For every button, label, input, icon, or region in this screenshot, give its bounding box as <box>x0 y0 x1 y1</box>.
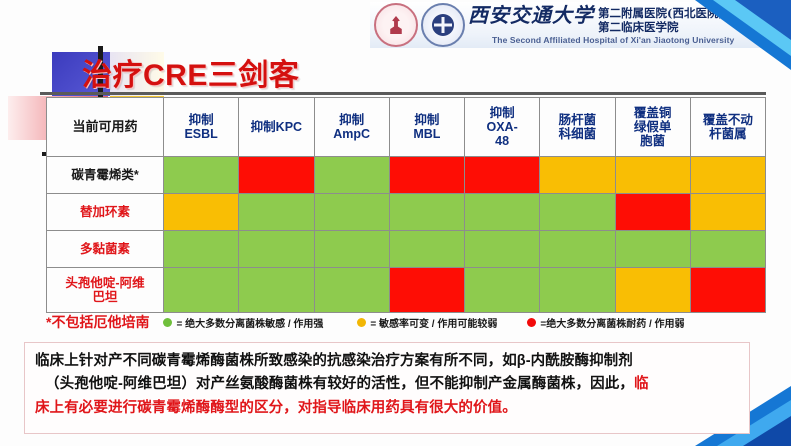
matrix-cell-red <box>239 157 314 194</box>
matrix-cell-green <box>164 231 239 268</box>
legend-item-green: = 绝大多数分离菌株敏感 / 作用强 <box>163 315 323 330</box>
legend-dot-amber-icon <box>357 318 366 327</box>
summary-note-box: 临床上针对产不同碳青霉烯酶菌株所致感染的抗感染治疗方案有所不同，如β-内酰胺酶抑… <box>24 342 750 434</box>
matrix-cell-green <box>389 231 464 268</box>
table-header-row: 当前可用药 抑制 ESBL 抑制KPC 抑制 AmpC 抑制 MBL <box>47 98 766 157</box>
matrix-cell-green <box>540 268 615 313</box>
note-line-2-highlight: 临 <box>634 376 649 392</box>
matrix-cell-red <box>465 157 540 194</box>
legend-label-green: = 绝大多数分离菌株敏感 / 作用强 <box>176 315 323 330</box>
row-label-line: 碳青霉烯类* <box>49 168 161 182</box>
note-line-2: （头孢他啶-阿维巴坦）对产丝氨酸酶菌株有较好的活性，但不能抑制产金属酶菌株，因此… <box>35 373 739 396</box>
matrix-cell-red <box>615 194 690 231</box>
matrix-cell-green <box>239 231 314 268</box>
drug-coverage-table: 当前可用药 抑制 ESBL 抑制KPC 抑制 AmpC 抑制 MBL <box>46 97 766 313</box>
table-row: 头孢他啶-阿维巴坦 <box>47 268 766 313</box>
matrix-cell-green <box>239 268 314 313</box>
matrix-cell-green <box>314 231 389 268</box>
note-line-1: 临床上针对产不同碳青霉烯酶菌株所致感染的抗感染治疗方案有所不同，如β-内酰胺酶抑… <box>35 350 739 373</box>
legend-dot-green-icon <box>163 318 172 327</box>
table-header: 当前可用药 抑制 ESBL 抑制KPC 抑制 AmpC 抑制 MBL <box>47 98 766 157</box>
column-header-enterobacteriaceae: 肠杆菌 科细菌 <box>540 98 615 157</box>
column-header-drug: 当前可用药 <box>47 98 164 157</box>
university-name: 西安交通大学 <box>468 5 594 25</box>
matrix-cell-green <box>465 268 540 313</box>
matrix-cell-green <box>615 231 690 268</box>
page-title: 治疗CRE三剑客 <box>82 50 299 94</box>
matrix-cell-amber <box>690 157 765 194</box>
legend-item-amber: = 敏感率可变 / 作用可能较弱 <box>357 315 497 330</box>
table-row: 多黏菌素 <box>47 231 766 268</box>
matrix-cell-green <box>540 231 615 268</box>
matrix-cell-amber <box>615 268 690 313</box>
legend-item-red: =绝大多数分离菌株耐药 / 作用弱 <box>527 315 684 330</box>
row-label-line: 巴坦 <box>49 290 161 304</box>
top-right-corner-decoration <box>695 0 791 70</box>
row-label-line: 替加环素 <box>49 205 161 219</box>
row-label-4: 头孢他啶-阿维巴坦 <box>47 268 164 313</box>
legend-label-red: =绝大多数分离菌株耐药 / 作用弱 <box>540 315 684 330</box>
matrix-cell-amber <box>164 194 239 231</box>
matrix-cell-green <box>314 268 389 313</box>
matrix-cell-green <box>465 231 540 268</box>
row-label-line: 头孢他啶-阿维 <box>49 276 161 290</box>
matrix-cell-green <box>164 268 239 313</box>
matrix-cell-red <box>389 157 464 194</box>
matrix-cell-amber <box>690 194 765 231</box>
matrix-cell-red <box>389 268 464 313</box>
column-header-acinetobacter: 覆盖不动 杆菌属 <box>690 98 765 157</box>
matrix-cell-green <box>465 194 540 231</box>
table-body: 碳青霉烯类*替加环素多黏菌素头孢他啶-阿维巴坦 <box>47 157 766 313</box>
column-header-mbl: 抑制 MBL <box>389 98 464 157</box>
table-row: 替加环素 <box>47 194 766 231</box>
footnote-text: *不包括厄他培南 <box>46 312 149 332</box>
matrix-cell-green <box>164 157 239 194</box>
matrix-cell-green <box>540 194 615 231</box>
blue-seal-icon <box>421 3 465 47</box>
note-line-3: 床上有必要进行碳青霉烯酶酶型的区分，对指导临床用药具有很大的价值。 <box>35 397 739 420</box>
table-row: 碳青霉烯类* <box>47 157 766 194</box>
legend: *不包括厄他培南 = 绝大多数分离菌株敏感 / 作用强 = 敏感率可变 / 作用… <box>46 311 776 333</box>
row-label-2: 替加环素 <box>47 194 164 231</box>
row-label-line: 多黏菌素 <box>49 242 161 256</box>
row-label-1: 碳青霉烯类* <box>47 157 164 194</box>
matrix-cell-green <box>314 157 389 194</box>
matrix-cell-red <box>690 268 765 313</box>
matrix-cell-green <box>239 194 314 231</box>
matrix-cell-amber <box>540 157 615 194</box>
column-header-kpc: 抑制KPC <box>239 98 314 157</box>
matrix-cell-green <box>314 194 389 231</box>
column-header-pseudomonas: 覆盖铜 绿假单 胞菌 <box>615 98 690 157</box>
red-seal-icon <box>374 3 418 47</box>
matrix-cell-green <box>389 194 464 231</box>
slide-canvas: 西安交通大学 第二附属医院(西北医院) 第二临床医学院 The Second A… <box>0 0 791 446</box>
legend-dot-red-icon <box>527 318 536 327</box>
matrix-cell-amber <box>615 157 690 194</box>
row-label-3: 多黏菌素 <box>47 231 164 268</box>
matrix-cell-green <box>690 231 765 268</box>
legend-label-amber: = 敏感率可变 / 作用可能较弱 <box>370 315 497 330</box>
column-header-esbl: 抑制 ESBL <box>164 98 239 157</box>
column-header-ampc: 抑制 AmpC <box>314 98 389 157</box>
note-line-2-text: （头孢他啶-阿维巴坦）对产丝氨酸酶菌株有较好的活性，但不能抑制产金属酶菌株，因此… <box>45 376 634 392</box>
column-header-oxa48: 抑制 OXA- 48 <box>465 98 540 157</box>
